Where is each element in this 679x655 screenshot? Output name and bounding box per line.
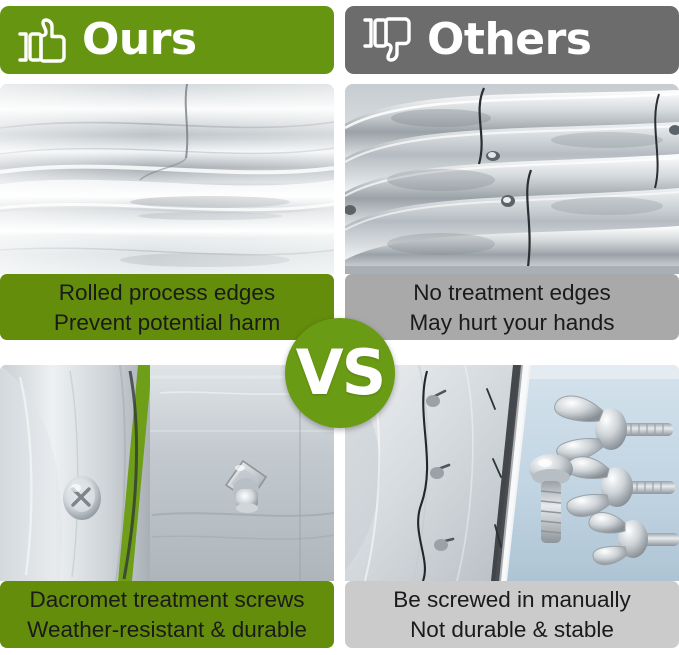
product-photo-dacromet-screw xyxy=(0,365,334,581)
comparison-infographic: Ours xyxy=(0,0,679,655)
ours-top-photo xyxy=(0,84,334,274)
ours-top-caption: Rolled process edges Prevent potential h… xyxy=(0,274,334,340)
others-bottom-photo xyxy=(345,365,679,581)
others-bottom-caption: Be screwed in manually Not durable & sta… xyxy=(345,581,679,648)
ours-column: Ours xyxy=(0,0,334,655)
caption-line-1: Dacromet treatment screws xyxy=(8,585,326,615)
others-header: Others xyxy=(345,6,679,74)
ours-header: Ours xyxy=(0,6,334,74)
thumbs-up-icon xyxy=(16,14,72,66)
product-photo-wing-screws xyxy=(345,365,679,581)
others-top-caption: No treatment edges May hurt your hands xyxy=(345,274,679,340)
vs-badge: VS xyxy=(285,318,395,428)
ours-bottom-photo xyxy=(0,365,334,581)
product-photo-raw-edge xyxy=(345,84,679,274)
caption-line-1: No treatment edges xyxy=(353,278,671,308)
thumbs-down-icon xyxy=(361,14,417,66)
product-photo-rolled-edge xyxy=(0,84,334,274)
others-header-label: Others xyxy=(427,18,592,62)
caption-line-1: Rolled process edges xyxy=(8,278,326,308)
caption-line-2: Weather-resistant & durable xyxy=(8,615,326,645)
caption-line-2: May hurt your hands xyxy=(353,308,671,338)
caption-line-2: Prevent potential harm xyxy=(8,308,326,338)
ours-header-label: Ours xyxy=(82,18,197,62)
others-column: Others xyxy=(345,0,679,655)
ours-bottom-caption: Dacromet treatment screws Weather-resist… xyxy=(0,581,334,648)
caption-line-1: Be screwed in manually xyxy=(353,585,671,615)
others-top-photo xyxy=(345,84,679,274)
caption-line-2: Not durable & stable xyxy=(353,615,671,645)
vs-badge-label: VS xyxy=(296,342,385,404)
